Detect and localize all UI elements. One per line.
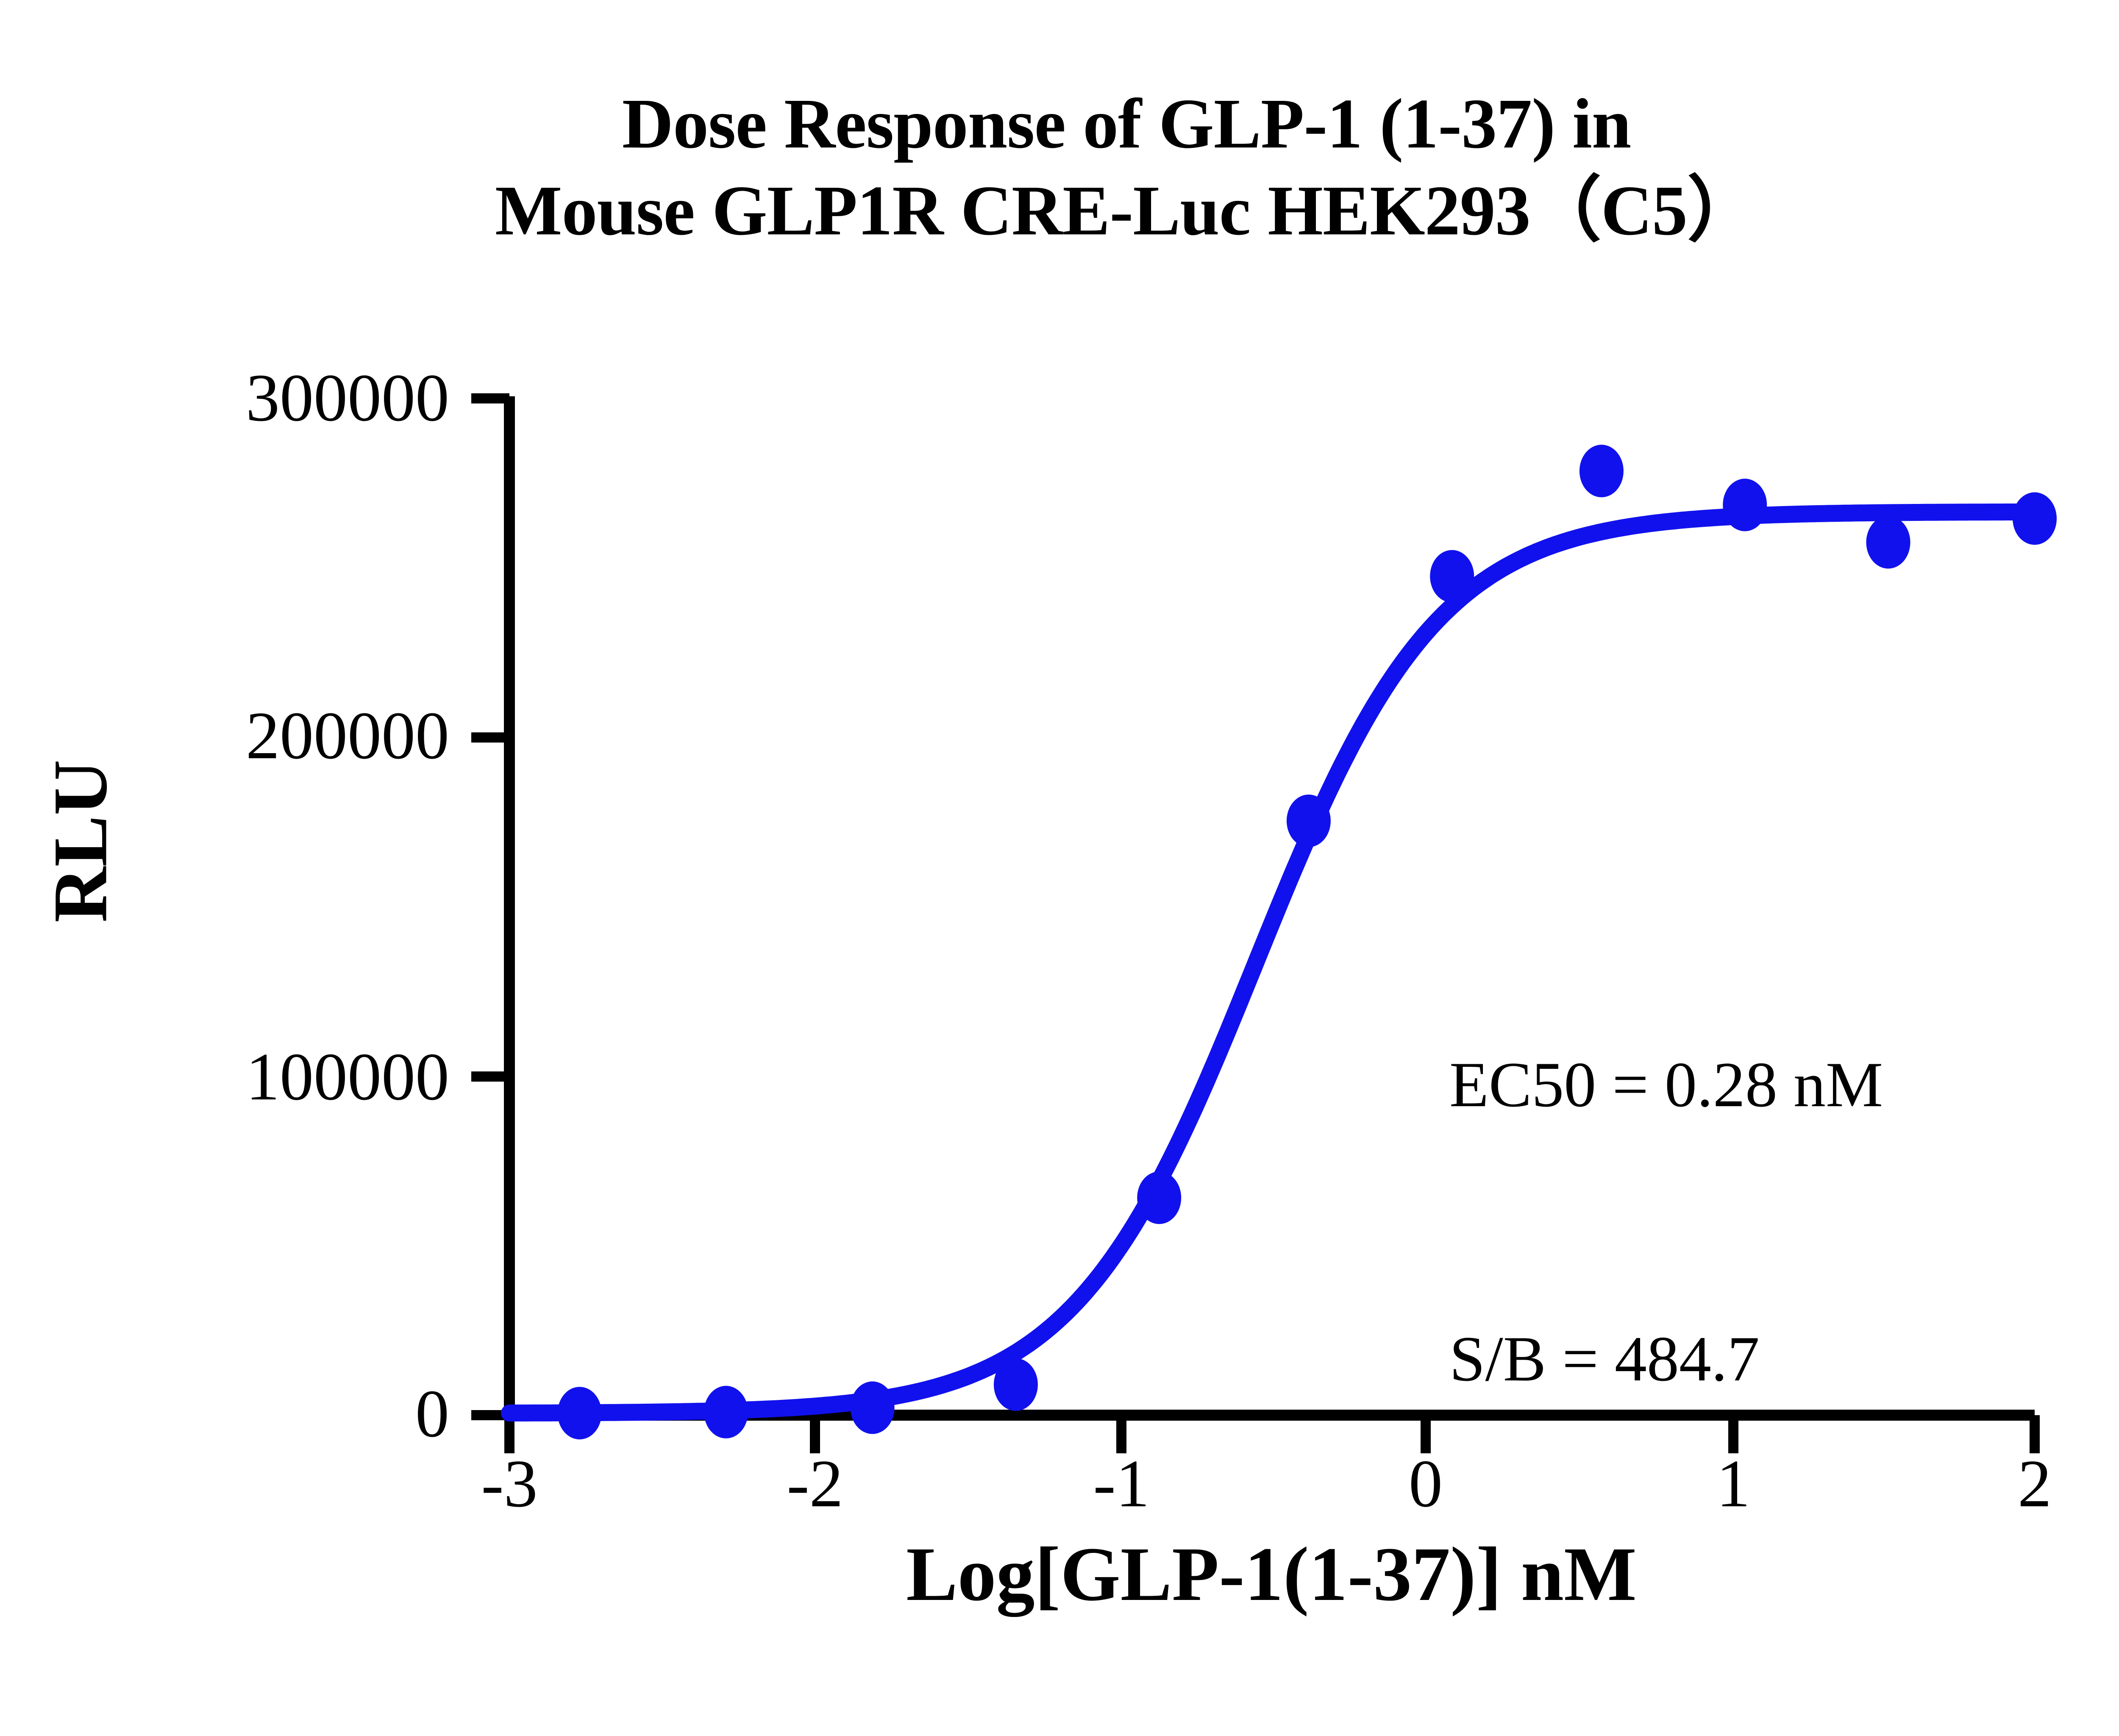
plot-area bbox=[0, 0, 2119, 1736]
data-point-group bbox=[558, 445, 2057, 1439]
y-tick-marks bbox=[471, 398, 509, 1415]
data-point bbox=[704, 1386, 748, 1438]
data-point bbox=[2013, 492, 2057, 545]
data-point bbox=[1723, 479, 1767, 531]
data-point bbox=[1430, 550, 1474, 603]
data-point bbox=[851, 1381, 895, 1434]
chart-figure: Dose Response of GLP-1 (1-37) in Mouse G… bbox=[0, 0, 2119, 1736]
sigmoid-fit-curve bbox=[509, 512, 2035, 1413]
data-point bbox=[1287, 795, 1331, 847]
data-point bbox=[1137, 1171, 1181, 1224]
data-point bbox=[558, 1387, 602, 1439]
data-point bbox=[994, 1358, 1038, 1411]
data-point bbox=[1580, 445, 1624, 497]
data-point bbox=[1866, 516, 1910, 569]
